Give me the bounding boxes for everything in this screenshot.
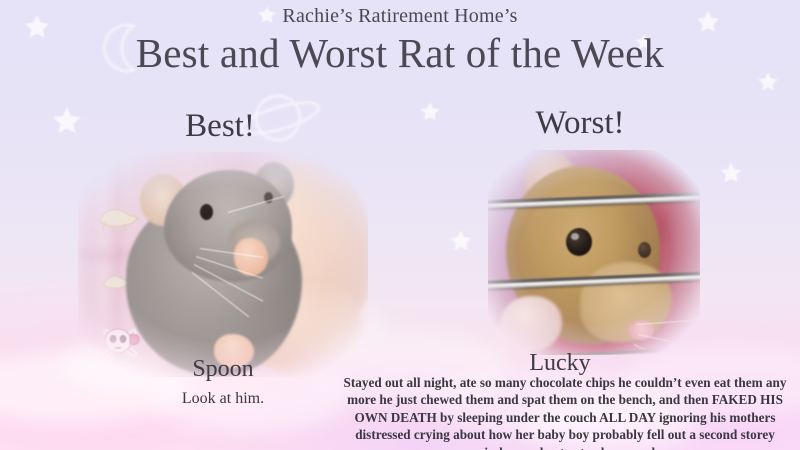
cat-print-icon [94, 198, 140, 237]
rat-eye [200, 204, 213, 220]
rat-eye [638, 242, 651, 258]
slide-canvas: Rachie’s Ratirement Home’s Best and Wors… [0, 0, 800, 450]
best-rat-description: Look at him. [113, 390, 333, 408]
subtitle: Rachie’s Ratirement Home’s [0, 5, 800, 28]
best-rat-photo [78, 152, 368, 377]
rat-eye [566, 228, 592, 256]
worst-heading: Worst! [480, 105, 680, 142]
best-heading: Best! [120, 108, 320, 145]
best-rat-name: Spoon [123, 356, 323, 383]
page-title: Best and Worst Rat of the Week [0, 30, 800, 77]
worst-rat-photo [488, 150, 700, 355]
worst-rat-name: Lucky [460, 350, 660, 377]
worst-rat-description: Stayed out all night, ate so many chocol… [336, 374, 794, 450]
